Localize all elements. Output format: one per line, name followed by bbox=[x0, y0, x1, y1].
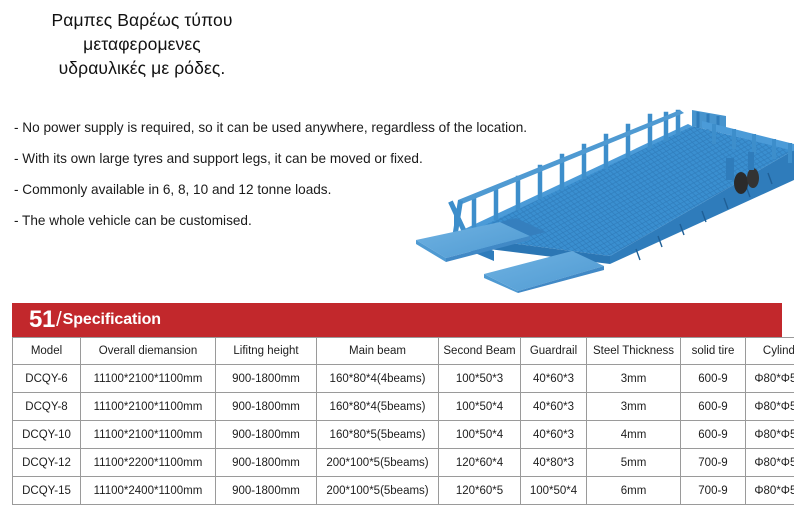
cell-model: DCQY-15 bbox=[13, 477, 81, 505]
spec-label: Specification bbox=[63, 312, 161, 328]
list-item: - The whole vehicle can be customised. bbox=[14, 213, 634, 228]
cell-steel-thickness: 5mm bbox=[587, 449, 681, 477]
cell-steel-thickness: 3mm bbox=[587, 365, 681, 393]
list-item: - Commonly available in 6, 8, 10 and 12 … bbox=[14, 182, 634, 197]
cell-cylinder: Φ80*Φ50*2 bbox=[746, 477, 794, 505]
cell-model: DCQY-8 bbox=[13, 393, 81, 421]
column-header-main-beam: Main beam bbox=[317, 338, 439, 365]
cell-model: DCQY-6 bbox=[13, 365, 81, 393]
cell-solid-tire: 700-9 bbox=[681, 449, 746, 477]
cell-overall-dimension: 11100*2200*1100mm bbox=[81, 449, 216, 477]
specification-header: 51 / Specification bbox=[12, 303, 782, 337]
page-title: Ραμπες Βαρέως τύπου μεταφερομενες υδραυλ… bbox=[12, 8, 272, 80]
cell-main-beam: 200*100*5(5beams) bbox=[317, 477, 439, 505]
column-header-second-beam: Second Beam bbox=[439, 338, 521, 365]
column-header-lifting-height: Lifitng height bbox=[216, 338, 317, 365]
spec-separator: / bbox=[56, 310, 62, 330]
cell-steel-thickness: 6mm bbox=[587, 477, 681, 505]
column-header-overall-dimension: Overall diemansion bbox=[81, 338, 216, 365]
cell-second-beam: 120*60*4 bbox=[439, 449, 521, 477]
cell-lifting-height: 900-1800mm bbox=[216, 449, 317, 477]
cell-cylinder: Φ80*Φ50*2 bbox=[746, 421, 794, 449]
column-header-cylinder: Cylinder bbox=[746, 338, 794, 365]
page-title-line-3: υδραυλικές με ρόδες. bbox=[12, 56, 272, 80]
column-header-model: Model bbox=[13, 338, 81, 365]
cell-cylinder: Φ80*Φ50*2 bbox=[746, 393, 794, 421]
cell-solid-tire: 600-9 bbox=[681, 393, 746, 421]
cell-overall-dimension: 11100*2100*1100mm bbox=[81, 393, 216, 421]
page-title-line-2: μεταφερομενες bbox=[12, 32, 272, 56]
cell-overall-dimension: 11100*2100*1100mm bbox=[81, 421, 216, 449]
cell-overall-dimension: 11100*2100*1100mm bbox=[81, 365, 216, 393]
specification-table: Model Overall diemansion Lifitng height … bbox=[12, 337, 794, 505]
cell-second-beam: 100*50*3 bbox=[439, 365, 521, 393]
cell-steel-thickness: 3mm bbox=[587, 393, 681, 421]
cell-main-beam: 160*80*4(5beams) bbox=[317, 393, 439, 421]
cell-lifting-height: 900-1800mm bbox=[216, 421, 317, 449]
cell-lifting-height: 900-1800mm bbox=[216, 477, 317, 505]
cell-model: DCQY-10 bbox=[13, 421, 81, 449]
cell-cylinder: Φ80*Φ50*2 bbox=[746, 365, 794, 393]
column-header-steel-thickness: Steel Thickness bbox=[587, 338, 681, 365]
cell-main-beam: 160*80*5(5beams) bbox=[317, 421, 439, 449]
cell-main-beam: 160*80*4(4beams) bbox=[317, 365, 439, 393]
cell-model: DCQY-12 bbox=[13, 449, 81, 477]
cell-guardrail: 40*60*3 bbox=[521, 365, 587, 393]
page-title-line-1: Ραμπες Βαρέως τύπου bbox=[12, 8, 272, 32]
list-item: - No power supply is required, so it can… bbox=[14, 120, 634, 135]
cell-lifting-height: 900-1800mm bbox=[216, 365, 317, 393]
table-header-row: Model Overall diemansion Lifitng height … bbox=[13, 338, 794, 365]
cell-steel-thickness: 4mm bbox=[587, 421, 681, 449]
spec-number: 51 bbox=[29, 308, 55, 332]
cell-second-beam: 120*60*5 bbox=[439, 477, 521, 505]
cell-main-beam: 200*100*5(5beams) bbox=[317, 449, 439, 477]
cell-overall-dimension: 11100*2400*1100mm bbox=[81, 477, 216, 505]
cell-solid-tire: 700-9 bbox=[681, 477, 746, 505]
cell-solid-tire: 600-9 bbox=[681, 365, 746, 393]
list-item: - With its own large tyres and support l… bbox=[14, 151, 634, 166]
column-header-guardrail: Guardrail bbox=[521, 338, 587, 365]
table-row: DCQY-12 11100*2200*1100mm 900-1800mm 200… bbox=[13, 449, 794, 477]
cell-solid-tire: 600-9 bbox=[681, 421, 746, 449]
table-row: DCQY-6 11100*2100*1100mm 900-1800mm 160*… bbox=[13, 365, 794, 393]
table-row: DCQY-15 11100*2400*1100mm 900-1800mm 200… bbox=[13, 477, 794, 505]
cell-cylinder: Φ80*Φ50*2 bbox=[746, 449, 794, 477]
cell-guardrail: 100*50*4 bbox=[521, 477, 587, 505]
column-header-solid-tire: solid tire bbox=[681, 338, 746, 365]
table-row: DCQY-10 11100*2100*1100mm 900-1800mm 160… bbox=[13, 421, 794, 449]
cell-guardrail: 40*60*3 bbox=[521, 393, 587, 421]
cell-second-beam: 100*50*4 bbox=[439, 393, 521, 421]
table-row: DCQY-8 11100*2100*1100mm 900-1800mm 160*… bbox=[13, 393, 794, 421]
cell-guardrail: 40*60*3 bbox=[521, 421, 587, 449]
cell-second-beam: 100*50*4 bbox=[439, 421, 521, 449]
feature-list: - No power supply is required, so it can… bbox=[14, 120, 634, 228]
specification-section: 51 / Specification Model Overall diemans… bbox=[12, 303, 782, 505]
cell-lifting-height: 900-1800mm bbox=[216, 393, 317, 421]
cell-guardrail: 40*80*3 bbox=[521, 449, 587, 477]
product-spec-page: Ραμπες Βαρέως τύπου μεταφερομενες υδραυλ… bbox=[0, 0, 794, 508]
